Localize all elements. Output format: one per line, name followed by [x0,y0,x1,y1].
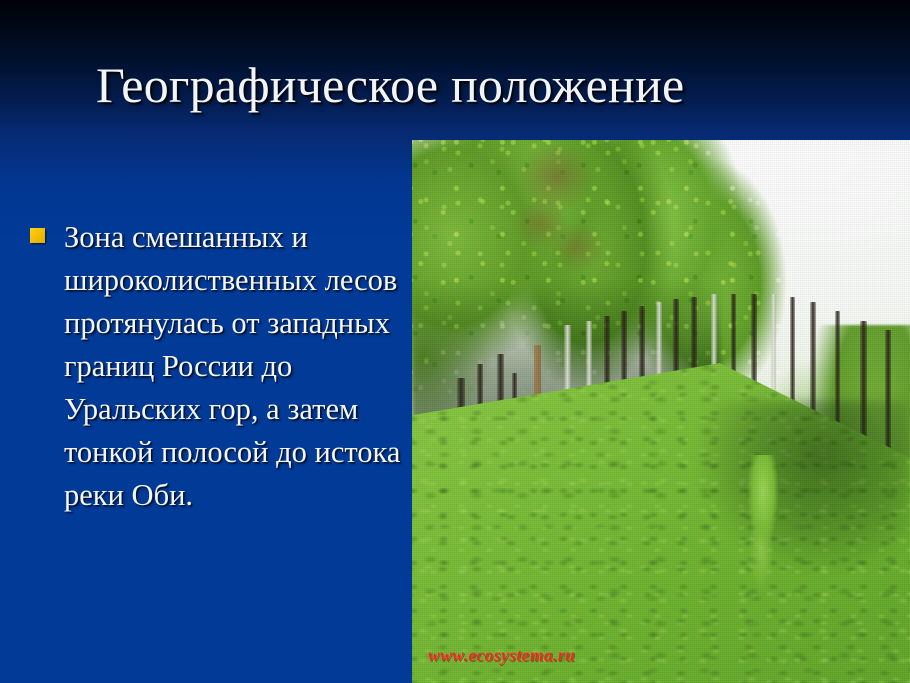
photo-watermark: www.ecosystema.ru [428,645,575,666]
bullet-list-item: Зона смешанных и широколиственных лесов … [30,216,402,517]
forest-photograph: www.ecosystema.ru [412,140,910,683]
photo-sapling [741,455,786,596]
bullet-item-text: Зона смешанных и широколиственных лесов … [64,216,402,517]
presentation-slide: Географическое положение Зона смешанных … [0,0,910,683]
slide-title: Географическое положение [96,54,836,116]
photo-slope-shadow [681,401,910,586]
square-bullet-icon [30,228,45,243]
slide-body-content: Зона смешанных и широколиственных лесов … [30,216,402,517]
